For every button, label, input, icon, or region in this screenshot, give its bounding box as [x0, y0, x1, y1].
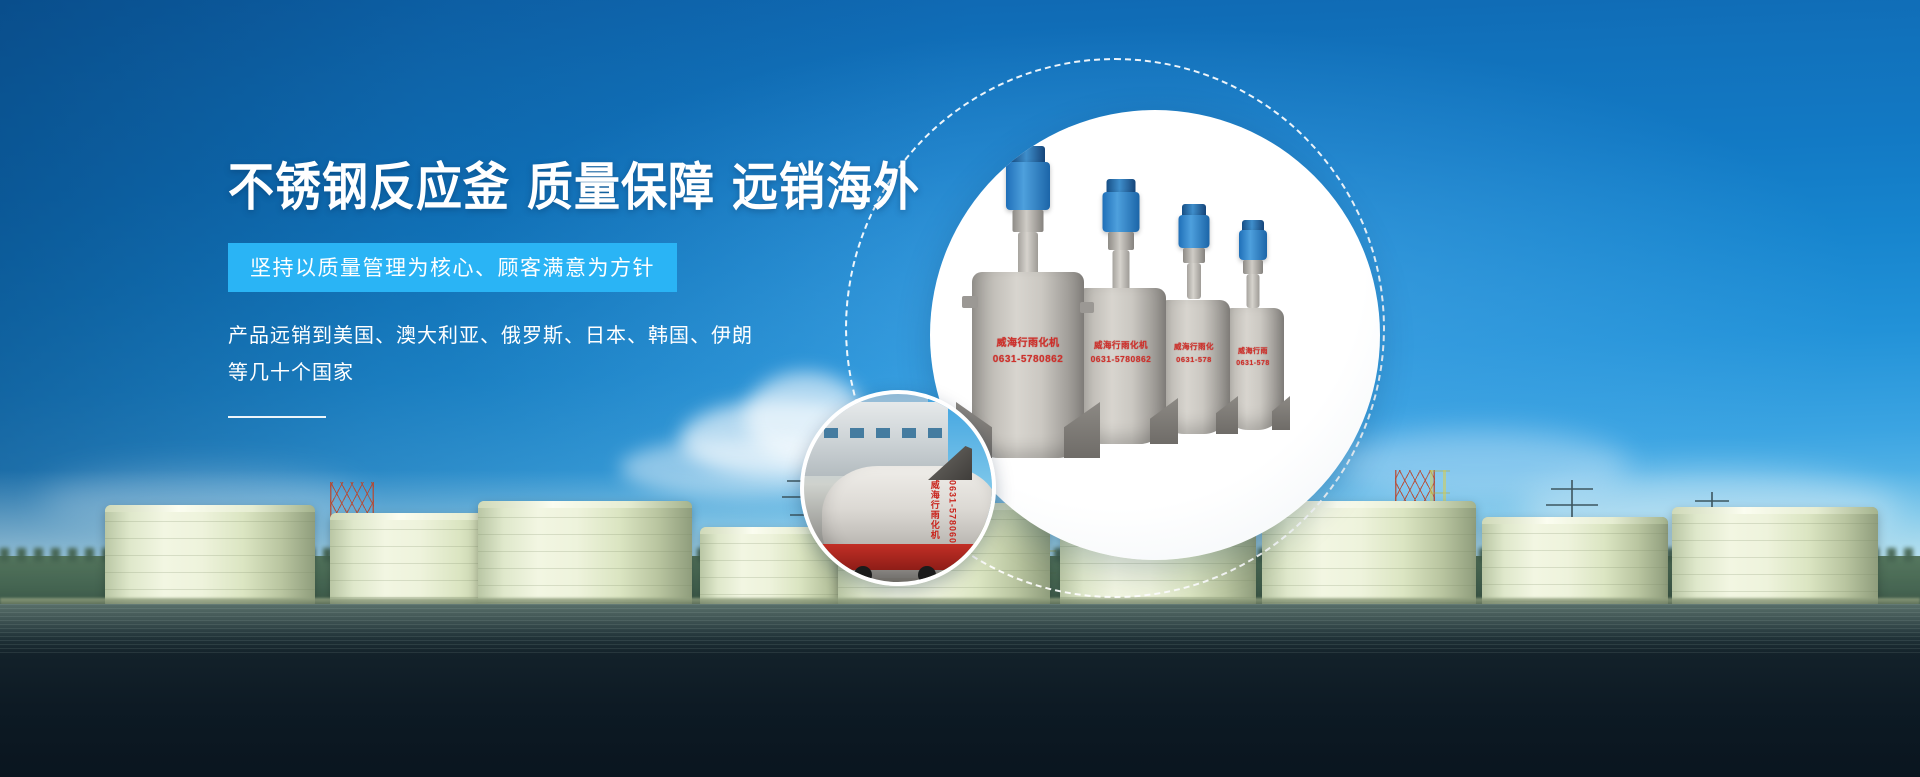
- storage-tank: [478, 501, 692, 605]
- banner-headline: 不锈钢反应釜 质量保障 远销海外: [228, 160, 948, 215]
- reactor-vessel: 威海行雨化 0631-578: [1158, 206, 1230, 434]
- reactor-phone-label: 0631-578: [1176, 355, 1212, 364]
- reactor-phone-label: 0631-578: [1236, 360, 1270, 369]
- hero-banner: 威海行雨 0631-578 威海行雨化 0631-578 威海行雨化机: [0, 0, 1920, 777]
- storage-tank: [1482, 517, 1668, 605]
- decorative-rule: [228, 416, 326, 418]
- banner-description: 产品远销到美国、澳大利亚、俄罗斯、日本、韩国、伊朗 等几十个国家: [228, 318, 948, 392]
- secondary-photo-circle: 威海行雨化机 0631-5780602: [800, 390, 996, 586]
- product-photo-circle: 威海行雨 0631-578 威海行雨化 0631-578 威海行雨化机: [930, 110, 1380, 560]
- water-reflection: [0, 604, 1920, 654]
- storage-tank: [1672, 507, 1878, 605]
- inset-brand-label: 威海行雨化机: [928, 480, 940, 540]
- description-line-1: 产品远销到美国、澳大利亚、俄罗斯、日本、韩国、伊朗: [228, 318, 948, 355]
- reactor-phone-label: 0631-5780862: [1091, 354, 1152, 365]
- reactor-vessel: 威海行雨 0631-578: [1222, 222, 1284, 430]
- reactor-brand-label: 威海行雨化机: [997, 338, 1060, 351]
- banner-copy: 不锈钢反应釜 质量保障 远销海外 坚持以质量管理为核心、顾客满意为方针 产品远销…: [228, 160, 948, 418]
- storage-tank: [105, 505, 315, 605]
- reactor-brand-label: 威海行雨: [1238, 348, 1268, 357]
- reactor-vessel: 威海行雨化机 0631-5780862: [1076, 182, 1166, 444]
- reactor-brand-label: 威海行雨化: [1174, 342, 1214, 351]
- reactor-phone-label: 0631-5780862: [993, 354, 1064, 367]
- reactor-brand-label: 威海行雨化机: [1094, 340, 1148, 351]
- inset-phone-label: 0631-5780602: [946, 480, 958, 550]
- description-line-2: 等几十个国家: [228, 355, 948, 392]
- tagline-highlight-bar: 坚持以质量管理为核心、顾客满意为方针: [228, 243, 677, 292]
- banner-tagline: 坚持以质量管理为核心、顾客满意为方针: [250, 257, 655, 280]
